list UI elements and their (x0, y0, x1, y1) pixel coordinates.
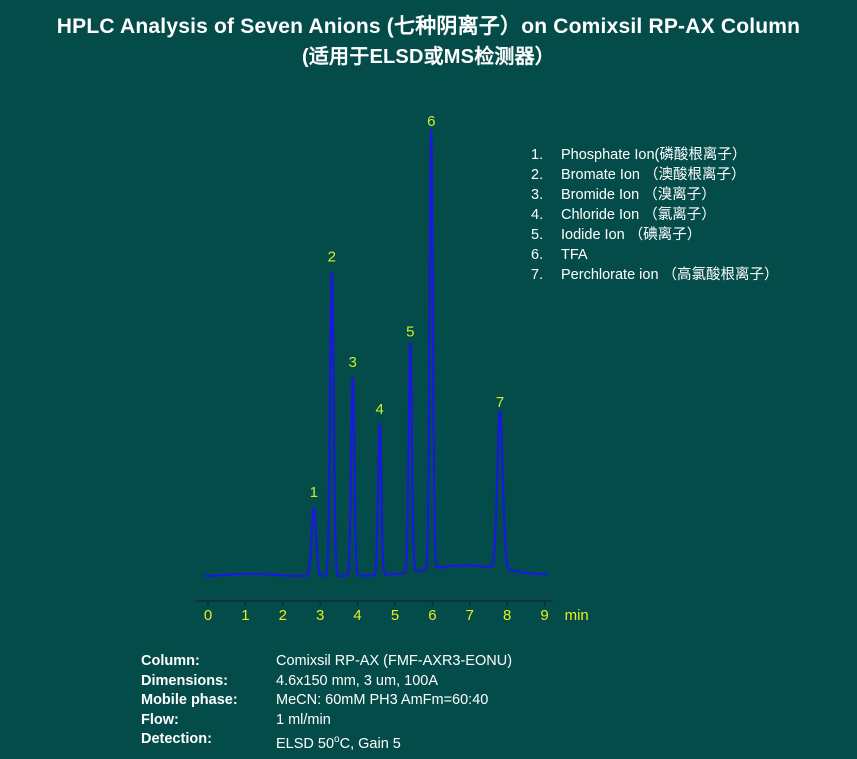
legend-item: 2. Bromate Ion （澳酸根离子） (531, 165, 851, 185)
legend-item-number: 4. (531, 205, 561, 225)
method-key: Column: (141, 652, 276, 672)
peak-label-6: 6 (427, 113, 435, 130)
peak-label-3: 3 (349, 354, 357, 371)
page-title: HPLC Analysis of Seven Anions (七种阴离子）on … (0, 12, 857, 72)
x-axis-tick-label: 9 (540, 607, 548, 624)
method-value: ELSD 50oC, Gain 5 (276, 730, 512, 754)
chromatogram-axis-group: 0123456789min (196, 601, 589, 624)
method-parameters: Column: Comixsil RP-AX (FMF-AXR3-EONU) D… (141, 652, 512, 754)
legend-item-label: Phosphate Ion(磷酸根离子） (561, 145, 851, 165)
legend-item: 5. Iodide Ion （碘离子） (531, 225, 851, 245)
method-value: Comixsil RP-AX (FMF-AXR3-EONU) (276, 652, 512, 672)
x-axis-tick-label: 8 (503, 607, 511, 624)
legend-item-label: TFA (561, 245, 851, 265)
method-key: Dimensions: (141, 672, 276, 692)
method-row-detection: Detection: ELSD 50oC, Gain 5 (141, 730, 512, 754)
chromatogram-trace-group (204, 130, 546, 576)
peak-label-7: 7 (496, 394, 504, 411)
legend-item-label: Bromate Ion （澳酸根离子） (561, 165, 851, 185)
title-line-2: (适用于ELSD或MS检测器） (0, 42, 857, 72)
method-row-dimensions: Dimensions: 4.6x150 mm, 3 um, 100A (141, 672, 512, 692)
legend-item-number: 3. (531, 185, 561, 205)
peak-label-4: 4 (376, 401, 384, 418)
legend-item-label: Perchlorate ion （高氯酸根离子） (561, 265, 851, 285)
peak-label-2: 2 (328, 249, 336, 266)
legend-item-number: 7. (531, 265, 561, 285)
legend-item-number: 6. (531, 245, 561, 265)
method-value: 1 ml/min (276, 711, 512, 731)
x-axis-tick-label: 4 (353, 607, 361, 624)
method-key: Mobile phase: (141, 691, 276, 711)
legend-item-number: 2. (531, 165, 561, 185)
chromatogram-svg: 0123456789min 1234567 (0, 0, 857, 640)
x-axis-tick-label: 5 (391, 607, 399, 624)
chromatogram: 0123456789min 1234567 (0, 0, 857, 640)
method-key: Detection: (141, 730, 276, 754)
legend-item-number: 5. (531, 225, 561, 245)
analyte-legend: 1. Phosphate Ion(磷酸根离子） 2. Bromate Ion （… (531, 145, 851, 285)
legend-item-label: Iodide Ion （碘离子） (561, 225, 851, 245)
x-axis-tick-label: 3 (316, 607, 324, 624)
method-value: MeCN: 60mM PH3 AmFm=60:40 (276, 691, 512, 711)
method-row-mobile-phase: Mobile phase: MeCN: 60mM PH3 AmFm=60:40 (141, 691, 512, 711)
title-line-1: HPLC Analysis of Seven Anions (七种阴离子）on … (0, 12, 857, 42)
x-axis-tick-label: 1 (241, 607, 249, 624)
legend-item: 3. Bromide Ion （溴离子） (531, 185, 851, 205)
legend-item: 7. Perchlorate ion （高氯酸根离子） (531, 265, 851, 285)
legend-item-number: 1. (531, 145, 561, 165)
chromatogram-trace (204, 130, 546, 576)
x-axis-tick-label: 2 (279, 607, 287, 624)
x-axis-tick-label: 0 (204, 607, 212, 624)
peak-label-group: 1234567 (310, 113, 505, 501)
method-key: Flow: (141, 711, 276, 731)
peak-label-1: 1 (310, 484, 318, 501)
method-row-column: Column: Comixsil RP-AX (FMF-AXR3-EONU) (141, 652, 512, 672)
legend-item: 4. Chloride Ion （氯离子） (531, 205, 851, 225)
method-value: 4.6x150 mm, 3 um, 100A (276, 672, 512, 692)
legend-item: 1. Phosphate Ion(磷酸根离子） (531, 145, 851, 165)
peak-label-5: 5 (406, 323, 414, 340)
legend-item-label: Bromide Ion （溴离子） (561, 185, 851, 205)
x-axis-unit-label: min (565, 607, 589, 624)
legend-item: 6. TFA (531, 245, 851, 265)
legend-item-label: Chloride Ion （氯离子） (561, 205, 851, 225)
x-axis-tick-label: 7 (466, 607, 474, 624)
method-row-flow: Flow: 1 ml/min (141, 711, 512, 731)
x-axis-tick-label: 6 (428, 607, 436, 624)
